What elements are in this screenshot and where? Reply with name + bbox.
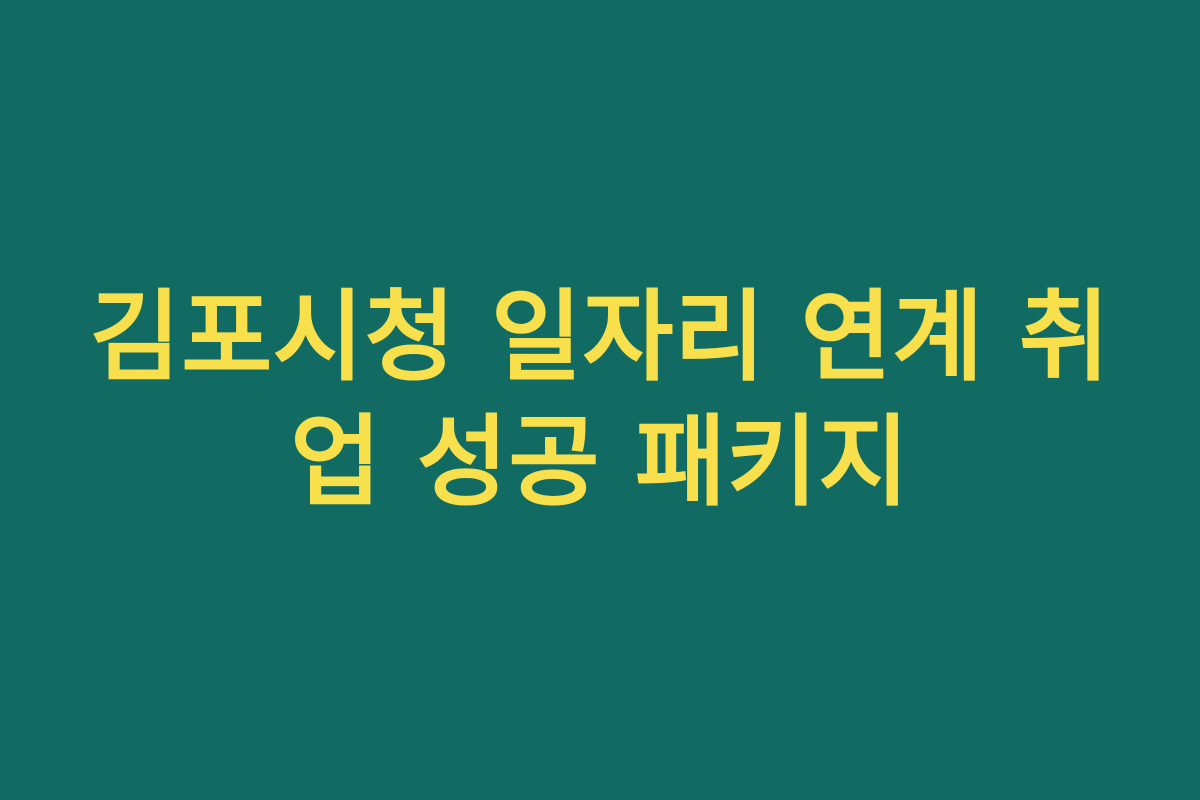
- title-line-2: 업 성공 패키지: [80, 400, 1120, 525]
- title-banner: 김포시청 일자리 연계 취 업 성공 패키지: [0, 0, 1200, 800]
- title-line-1: 김포시청 일자리 연계 취: [80, 275, 1120, 400]
- page-title: 김포시청 일자리 연계 취 업 성공 패키지: [80, 275, 1120, 525]
